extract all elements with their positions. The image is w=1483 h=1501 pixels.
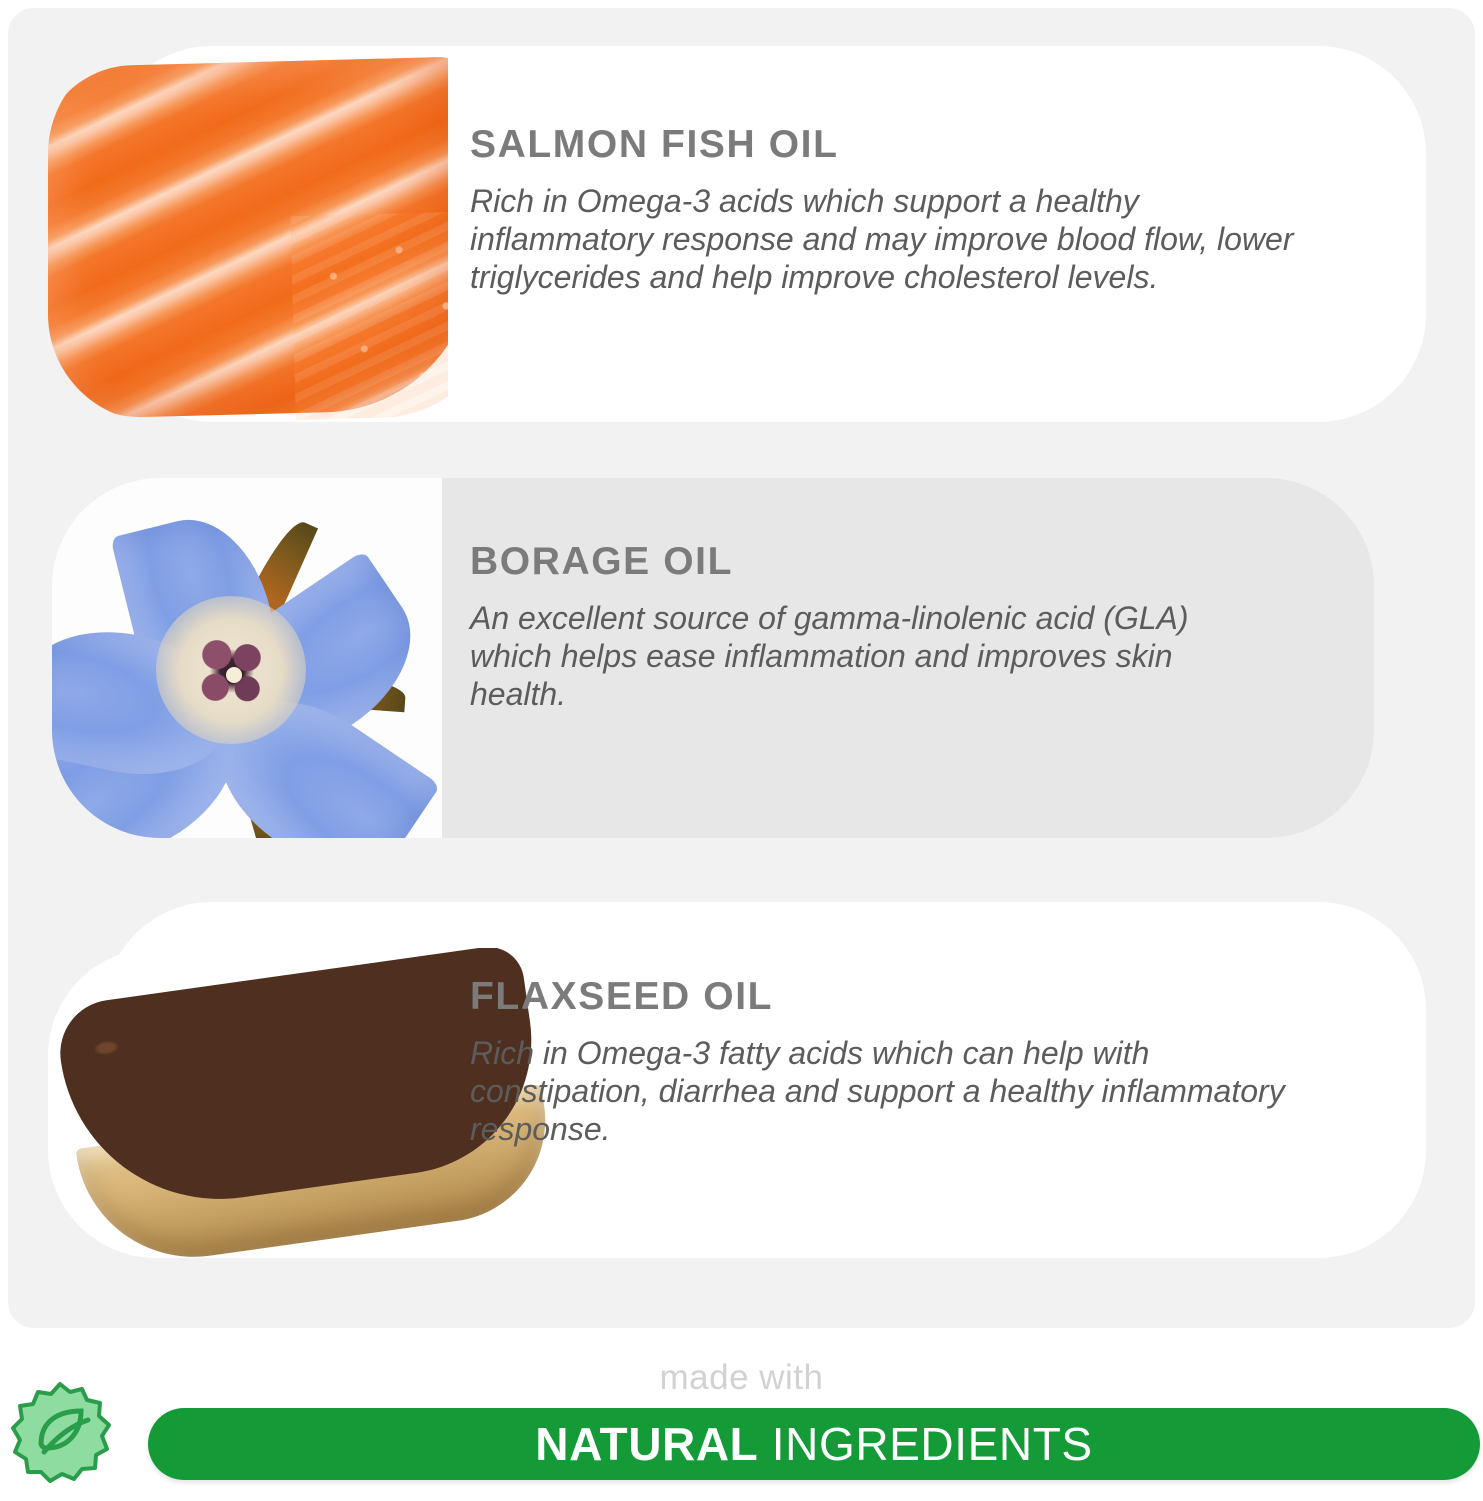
banner-text: NATURAL INGREDIENTS bbox=[535, 1417, 1092, 1471]
salmon-fillet-photo bbox=[48, 46, 448, 422]
natural-ingredients-banner: NATURAL INGREDIENTS bbox=[148, 1408, 1480, 1480]
borage-flower-graphic bbox=[52, 478, 442, 838]
ingredient-description: Rich in Omega-3 acids which support a he… bbox=[470, 183, 1310, 296]
banner-text-strong: NATURAL bbox=[535, 1418, 758, 1470]
borage-flower-photo bbox=[52, 478, 442, 838]
ingredient-text-salmon-fish-oil: SALMON FISH OIL Rich in Omega-3 acids wh… bbox=[470, 123, 1310, 296]
leaf-rosette-icon bbox=[8, 1378, 112, 1496]
ingredient-title: BORAGE OIL bbox=[470, 540, 1260, 584]
made-with-label: made with bbox=[0, 1358, 1483, 1398]
ingredient-text-flaxseed-oil: FLAXSEED OIL Rich in Omega-3 fatty acids… bbox=[470, 975, 1290, 1148]
ingredient-description: Rich in Omega-3 fatty acids which can he… bbox=[470, 1035, 1290, 1148]
salmon-flesh-graphic bbox=[48, 56, 448, 419]
ingredient-description: An excellent source of gamma-linolenic a… bbox=[470, 600, 1260, 713]
ingredient-title: FLAXSEED OIL bbox=[470, 975, 1290, 1019]
borage-flower-center bbox=[194, 634, 270, 708]
ingredient-text-borage-oil: BORAGE OIL An excellent source of gamma-… bbox=[470, 540, 1260, 713]
ingredient-title: SALMON FISH OIL bbox=[470, 123, 1310, 167]
banner-text-light: INGREDIENTS bbox=[758, 1418, 1092, 1470]
